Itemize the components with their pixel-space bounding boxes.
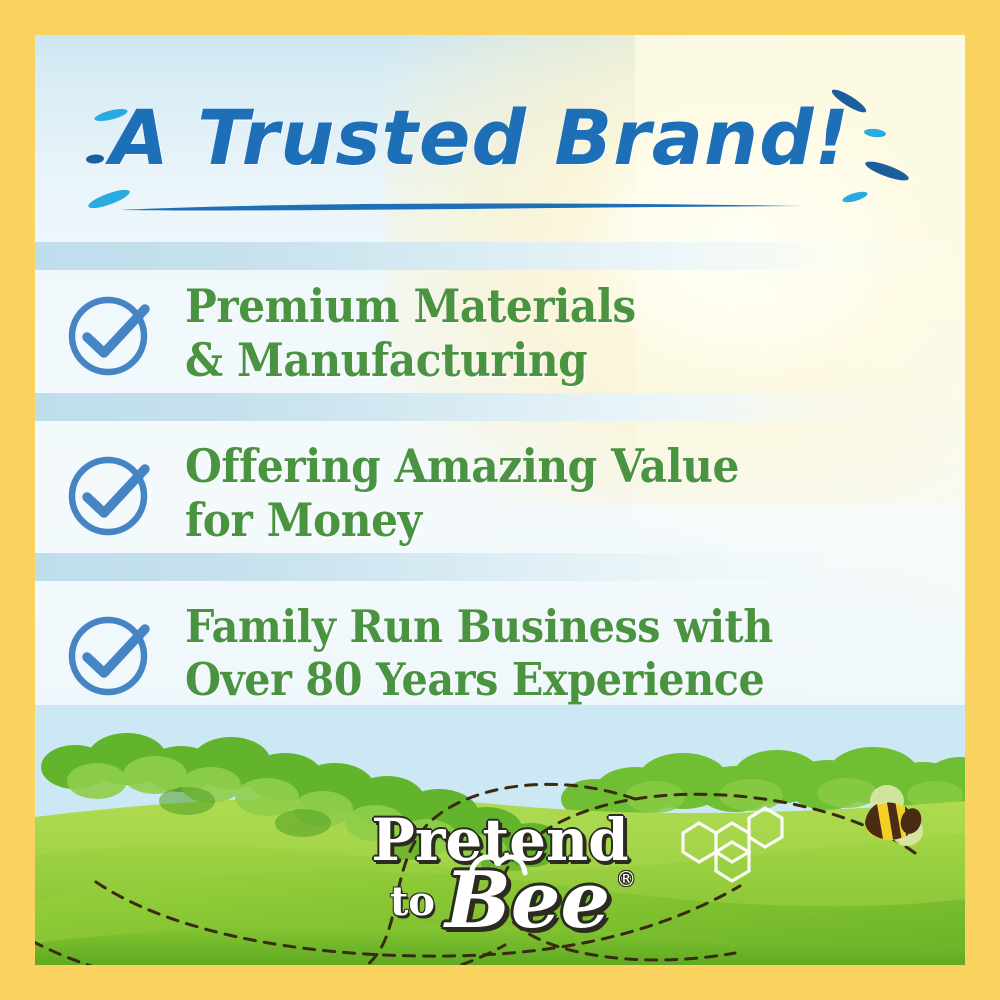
- check-circle-icon: [35, 607, 185, 701]
- benefit-text-premium-materials: Premium Materials & Manufacturing: [185, 280, 636, 388]
- row-separator-band: [35, 242, 965, 270]
- headline-underline-swoosh: [117, 201, 807, 214]
- benefit-text-amazing-value: Offering Amazing Value for Money: [185, 440, 739, 548]
- benefit-line-2: for Money: [185, 494, 739, 548]
- row-separator-band: [35, 393, 965, 421]
- sparkle-cluster-left: [73, 101, 163, 221]
- benefit-row-family-run: Family Run Business with Over 80 Years E…: [35, 595, 965, 713]
- benefit-line-1: Offering Amazing Value: [185, 440, 739, 494]
- row-separator-band: [35, 553, 965, 581]
- check-circle-icon: [35, 287, 185, 381]
- poster-root: A Trusted Brand!: [0, 0, 1000, 1000]
- content-panel: A Trusted Brand!: [35, 35, 965, 965]
- page-title: A Trusted Brand!: [110, 93, 850, 182]
- sparkle-cluster-right: [813, 85, 933, 225]
- benefit-line-1: Family Run Business with: [185, 601, 773, 654]
- flight-path-overflow: [0, 880, 1000, 1000]
- benefit-row-amazing-value: Offering Amazing Value for Money: [35, 435, 965, 553]
- benefit-text-family-run: Family Run Business with Over 80 Years E…: [185, 601, 773, 706]
- check-circle-icon: [35, 447, 185, 541]
- benefit-row-premium-materials: Premium Materials & Manufacturing: [35, 275, 965, 393]
- benefit-line-1: Premium Materials: [185, 280, 636, 334]
- headline-block: A Trusted Brand!: [35, 83, 965, 233]
- benefit-line-2: & Manufacturing: [185, 334, 636, 388]
- benefit-line-2: Over 80 Years Experience: [185, 654, 773, 707]
